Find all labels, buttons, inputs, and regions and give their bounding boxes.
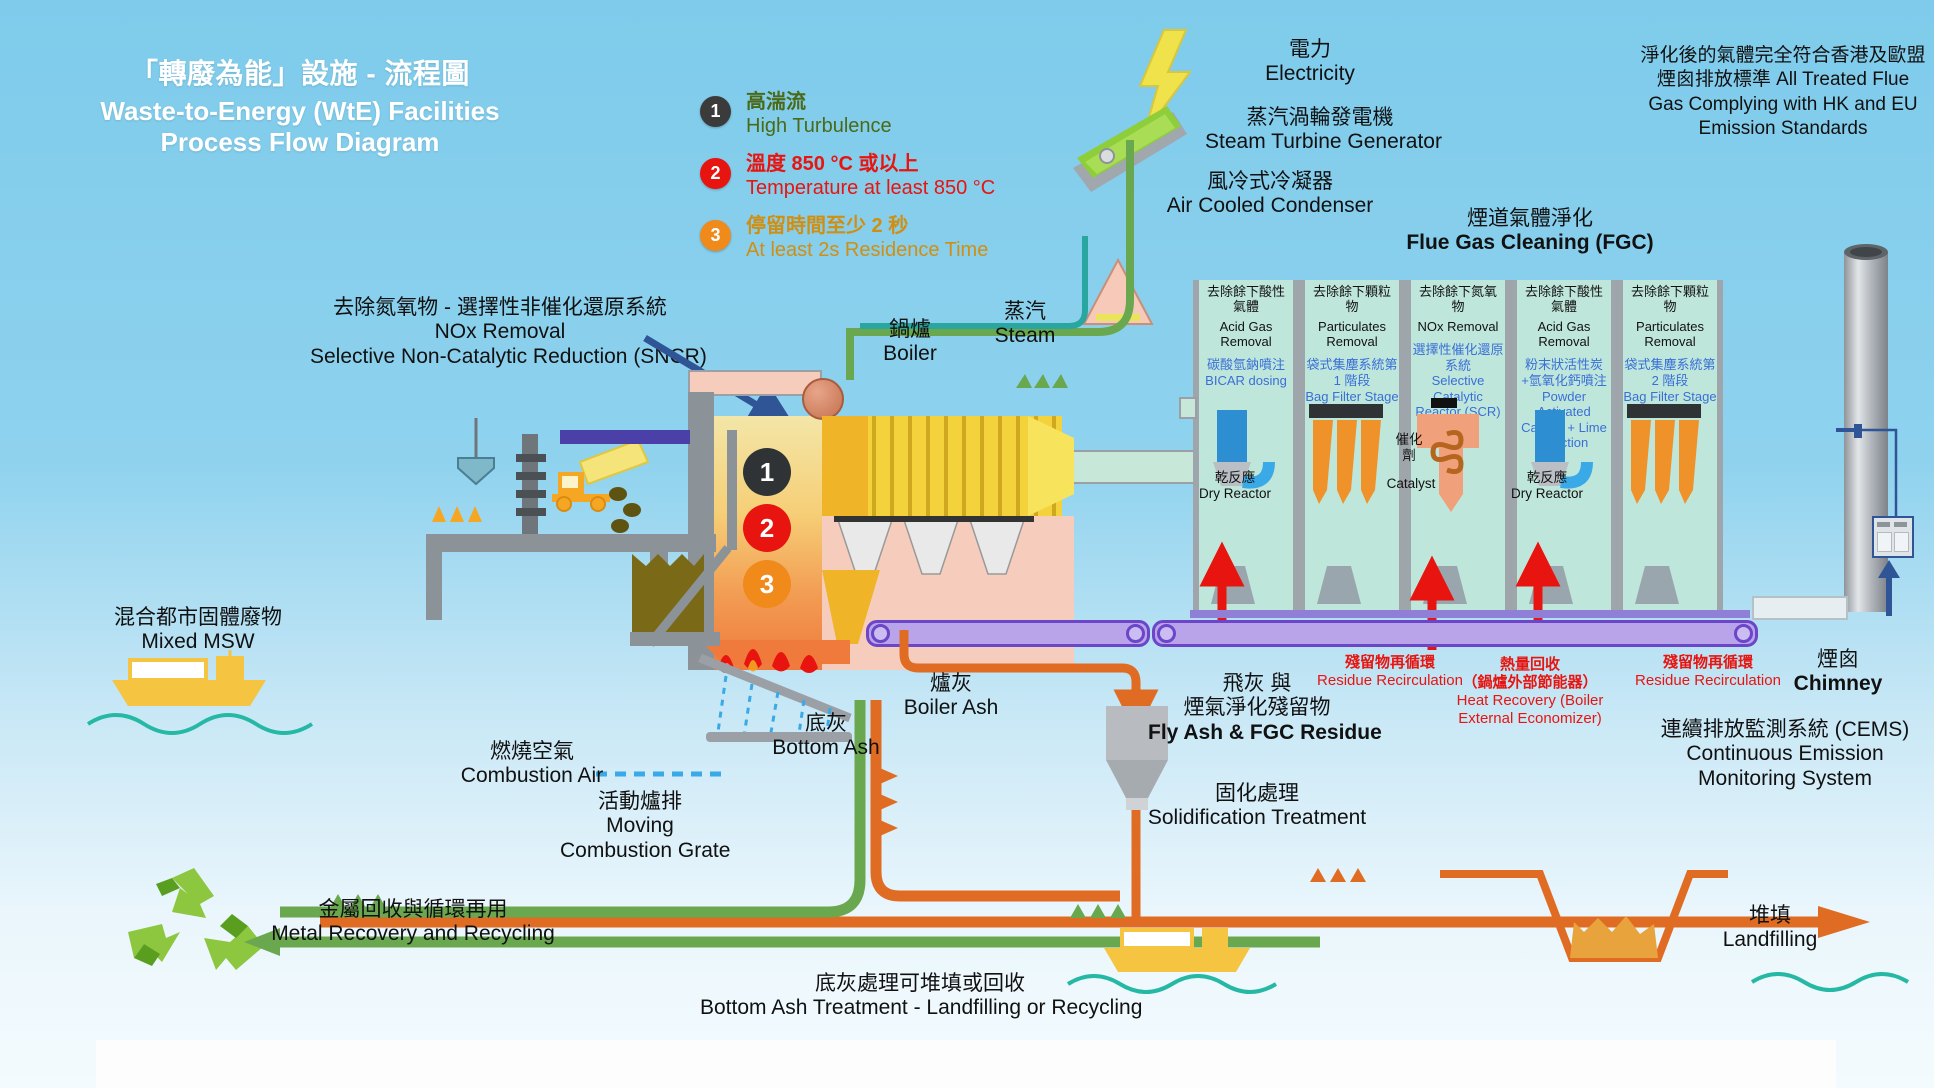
steam-zh: 蒸汽 xyxy=(975,300,1075,324)
boiler-ash-en: Boiler Ash xyxy=(896,696,1006,720)
dry-reactor-2-label: 乾反應 Dry Reactor xyxy=(1499,470,1595,502)
title-en-line2: Process Flow Diagram xyxy=(60,127,540,158)
fly-ash-label: 飛灰 與 煙氣淨化殘留物 Fly Ash & FGC Residue xyxy=(1148,672,1366,745)
landfilling-label: 堆填 Landfilling xyxy=(1700,904,1840,953)
msw-en: Mixed MSW xyxy=(108,630,288,654)
boiler-label: 鍋爐 Boiler xyxy=(855,318,965,367)
sea-wave-bottom xyxy=(1068,968,1292,996)
combustion-air-en: Combustion Air xyxy=(452,764,612,788)
dry-reactor-1-en: Dry Reactor xyxy=(1199,486,1271,501)
combustion-air-zh: 燃燒空氣 xyxy=(452,740,612,764)
bottom-ash-chevrons-2 xyxy=(1070,902,1130,920)
bottom-ash-label: 底灰 Bottom Ash xyxy=(766,712,886,761)
combustion-air-label: 燃燒空氣 Combustion Air xyxy=(452,740,612,789)
fgc-5-sub-zh: 袋式集塵系統第 2 階段 xyxy=(1624,357,1715,388)
fgc-1-zh: 去除餘下酸性氣體 xyxy=(1207,284,1285,314)
legend-badge-2: 2 xyxy=(700,158,731,189)
solidification-label: 固化處理 Solidification Treatment xyxy=(1142,782,1372,831)
fgc-5-zh: 去除餘下顆粒物 xyxy=(1631,284,1709,314)
solidification-en: Solidification Treatment xyxy=(1142,806,1372,830)
boiler-ash-label: 爐灰 Boiler Ash xyxy=(896,672,1006,721)
fgc-1-sub-en: BICAR dosing xyxy=(1205,373,1287,388)
page-title: 「轉廢為能」設施 - 流程圖 Waste-to-Energy (WtE) Fac… xyxy=(60,52,540,158)
catalyst-label-en: Catalyst xyxy=(1379,476,1443,492)
condition-badge-2: 2 xyxy=(743,504,791,552)
fgc-header-label: 煙道氣體淨化 Flue Gas Cleaning (FGC) xyxy=(1400,207,1660,256)
fly-ash-zh-2: 煙氣淨化殘留物 xyxy=(1148,696,1366,720)
bat-en: Bottom Ash Treatment - Landfilling or Re… xyxy=(700,996,1140,1020)
conveyor-base-bar xyxy=(1190,610,1750,618)
fgc-4-sub-zh: 粉末狀活性炭+氫氧化鈣噴注 xyxy=(1521,357,1607,388)
pit-vent-marks xyxy=(432,504,486,524)
sncr-label: 去除氮氧物 - 選擇性非催化還原系統 NOx Removal Selective… xyxy=(310,296,690,369)
legend-badge-3: 3 xyxy=(700,220,731,251)
dry-reactor-2-zh: 乾反應 xyxy=(1527,470,1568,485)
chimney-zh: 煙囪 xyxy=(1778,648,1898,672)
fgc-4-zh: 去除餘下酸性氣體 xyxy=(1525,284,1603,314)
electricity-label: 電力 Electricity xyxy=(1230,38,1390,87)
feed-chute xyxy=(640,430,740,670)
landfilling-zh: 堆填 xyxy=(1700,904,1840,928)
waste-ship-icon xyxy=(104,650,274,712)
emission-standards-note: 淨化後的氣體完全符合香港及歐盟煙囪排放標準 All Treated Flue G… xyxy=(1640,44,1926,141)
fgc-1-sub-zh: 碳酸氫鈉噴注 xyxy=(1207,357,1285,372)
dry-reactor-2-en: Dry Reactor xyxy=(1511,486,1583,501)
chimney-label: 煙囪 Chimney xyxy=(1778,648,1898,697)
fgc-1-en: Acid Gas Removal xyxy=(1220,319,1273,349)
chimney-en: Chimney xyxy=(1778,672,1898,696)
metal-recovery-zh: 金屬回收與循環再用 xyxy=(270,898,556,922)
boiler-drum xyxy=(802,378,844,420)
legend-1-en: High Turbulence xyxy=(746,114,995,138)
fgc-3-zh: 去除餘下氮氧物 xyxy=(1419,284,1497,314)
moving-grate-label: 活動爐排 Moving Combustion Grate xyxy=(560,790,720,863)
grate-en-1: Moving xyxy=(560,814,720,838)
sncr-zh: 去除氮氧物 - 選擇性非催化還原系統 xyxy=(310,296,690,320)
bottom-ash-en: Bottom Ash xyxy=(766,736,886,760)
dry-reactor-1-zh: 乾反應 xyxy=(1215,470,1256,485)
grate-en-2: Combustion Grate xyxy=(560,839,720,863)
sncr-en-1: NOx Removal xyxy=(310,320,690,344)
landfill-icon xyxy=(1440,862,1730,972)
fgc-2-sub-zh: 袋式集塵系統第 1 階段 xyxy=(1306,357,1397,388)
fgc-3-sub-zh: 選擇性催化還原系統 xyxy=(1412,342,1503,373)
boiler-zh: 鍋爐 xyxy=(855,318,965,342)
fgc-2-zh: 去除餘下顆粒物 xyxy=(1313,284,1391,314)
boiler-en: Boiler xyxy=(855,342,965,366)
catalyst-en: Catalyst xyxy=(1387,476,1436,491)
fly-ash-zh-1: 飛灰 與 xyxy=(1148,672,1366,696)
solidification-zh: 固化處理 xyxy=(1142,782,1372,806)
fly-ash-en: Fly Ash & FGC Residue xyxy=(1148,721,1366,745)
electricity-zh: 電力 xyxy=(1230,38,1390,62)
condition-badge-1: 1 xyxy=(743,448,791,496)
turbine-zh: 蒸汽渦輪發電機 xyxy=(1205,106,1435,130)
bottom-strip xyxy=(96,1040,1836,1088)
fgc-4-en: Acid Gas Removal xyxy=(1538,319,1591,349)
cems-arrow xyxy=(1878,560,1902,616)
title-en-line1: Waste-to-Energy (WtE) Facilities xyxy=(60,96,540,127)
steam-en: Steam xyxy=(975,324,1075,348)
metal-recovery-en: Metal Recovery and Recycling xyxy=(270,922,556,946)
msw-zh: 混合都市固體廢物 xyxy=(108,606,288,630)
steam-label: 蒸汽 Steam xyxy=(975,300,1075,349)
metal-recovery-label: 金屬回收與循環再用 Metal Recovery and Recycling xyxy=(270,898,556,947)
stack-inlet-duct xyxy=(1752,596,1848,620)
landfilling-en: Landfilling xyxy=(1700,928,1840,952)
grate-zh: 活動爐排 xyxy=(560,790,720,814)
catalyst-zh: 催化劑 xyxy=(1396,432,1423,463)
sea-wave-far-right xyxy=(1752,966,1932,994)
boiler-ash-zh: 爐灰 xyxy=(896,672,1006,696)
recycling-symbol-icon xyxy=(128,866,278,982)
cems-zh: 連續排放監測系統 (CEMS) xyxy=(1650,718,1920,742)
fgc-3-en: NOx Removal xyxy=(1418,319,1499,334)
legend-item-1: 1 高湍流 High Turbulence xyxy=(700,90,995,144)
sea-wave-left xyxy=(88,706,336,736)
cems-cabinet-icon xyxy=(1872,516,1914,558)
bottom-ash-zh: 底灰 xyxy=(766,712,886,736)
landfill-route-chevrons xyxy=(1310,866,1370,884)
cems-en-2: Monitoring System xyxy=(1650,767,1920,791)
mixed-msw-label: 混合都市固體廢物 Mixed MSW xyxy=(108,606,288,655)
electricity-en: Electricity xyxy=(1230,62,1390,86)
fgc-5-en: Particulates Removal xyxy=(1636,319,1704,349)
sncr-en-2: Selective Non-Catalytic Reduction (SNCR) xyxy=(310,345,690,369)
diagram-canvas: 「轉廢為能」設施 - 流程圖 Waste-to-Energy (WtE) Fac… xyxy=(0,0,1934,1088)
cems-en-1: Continuous Emission xyxy=(1650,742,1920,766)
cems-label: 連續排放監測系統 (CEMS) Continuous Emission Moni… xyxy=(1650,718,1920,791)
fgc-zh: 煙道氣體淨化 xyxy=(1400,207,1660,231)
fgc-interconnect-ducts xyxy=(1180,388,1760,428)
condition-badge-3: 3 xyxy=(743,560,791,608)
fgc-2-en: Particulates Removal xyxy=(1318,319,1386,349)
fgc-en: Flue Gas Cleaning (FGC) xyxy=(1400,231,1660,255)
catalyst-label: 催化劑 xyxy=(1389,432,1429,464)
title-zh: 「轉廢為能」設施 - 流程圖 xyxy=(60,52,540,92)
legend-1-zh: 高湍流 xyxy=(746,90,995,114)
boiler-side-duct xyxy=(560,430,690,444)
legend-badge-1: 1 xyxy=(700,96,731,127)
dry-reactor-1-label: 乾反應 Dry Reactor xyxy=(1187,470,1283,502)
bottom-ash-chevrons xyxy=(880,768,902,838)
